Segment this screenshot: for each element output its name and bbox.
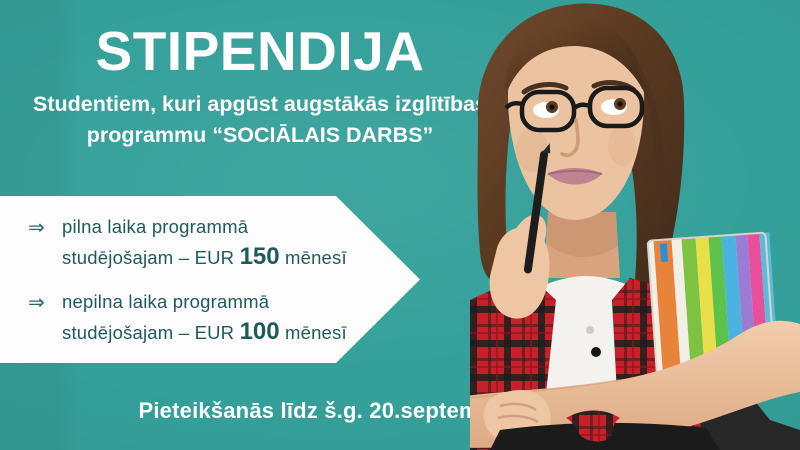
benefit-amount: 150 <box>240 243 280 270</box>
benefit-line2: studējošajam – EUR 150 mēnesī <box>62 242 358 273</box>
subline-line1: Studentiem, kuri apgūst augstākās izglīt… <box>33 92 487 116</box>
benefit-line2-prefix: studējošajam – EUR <box>62 247 240 268</box>
benefit-line2-suffix: mēnesī <box>280 322 347 343</box>
poster-subline: Studentiem, kuri apgūst augstākās izglīt… <box>0 89 520 150</box>
scholarship-poster: STIPENDIJA Studentiem, kuri apgūst augst… <box>0 0 800 450</box>
benefit-line2: studējošajam – EUR 100 mēnesī <box>62 317 358 348</box>
subline-line2-prefix: programmu <box>87 123 212 147</box>
program-name: “SOCIĀLAIS DARBS” <box>212 123 433 147</box>
headline-block: STIPENDIJA Studentiem, kuri apgūst augst… <box>0 24 520 150</box>
benefit-line2-prefix: studējošajam – EUR <box>62 322 240 343</box>
double-arrow-icon: ⇒ <box>28 212 62 242</box>
benefit-line2-suffix: mēnesī <box>280 247 347 268</box>
benefits-list: ⇒ pilna laika programmā studējošajam – E… <box>28 212 358 348</box>
double-arrow-icon: ⇒ <box>28 287 62 317</box>
benefit-line1: nepilna laika programmā <box>62 287 358 317</box>
poster-headline: STIPENDIJA <box>0 24 520 79</box>
benefit-text: nepilna laika programmā studējošajam – E… <box>62 287 358 348</box>
deadline-text: Pieteikšanās līdz š.g. 20.septembrim. <box>0 398 672 424</box>
benefit-line1: pilna laika programmā <box>62 212 358 242</box>
list-item: ⇒ pilna laika programmā studējošajam – E… <box>28 212 358 273</box>
benefit-text: pilna laika programmā studējošajam – EUR… <box>62 212 358 273</box>
benefit-amount: 100 <box>240 318 280 345</box>
benefits-arrow-banner: ⇒ pilna laika programmā studējošajam – E… <box>0 196 420 363</box>
list-item: ⇒ nepilna laika programmā studējošajam –… <box>28 287 358 348</box>
